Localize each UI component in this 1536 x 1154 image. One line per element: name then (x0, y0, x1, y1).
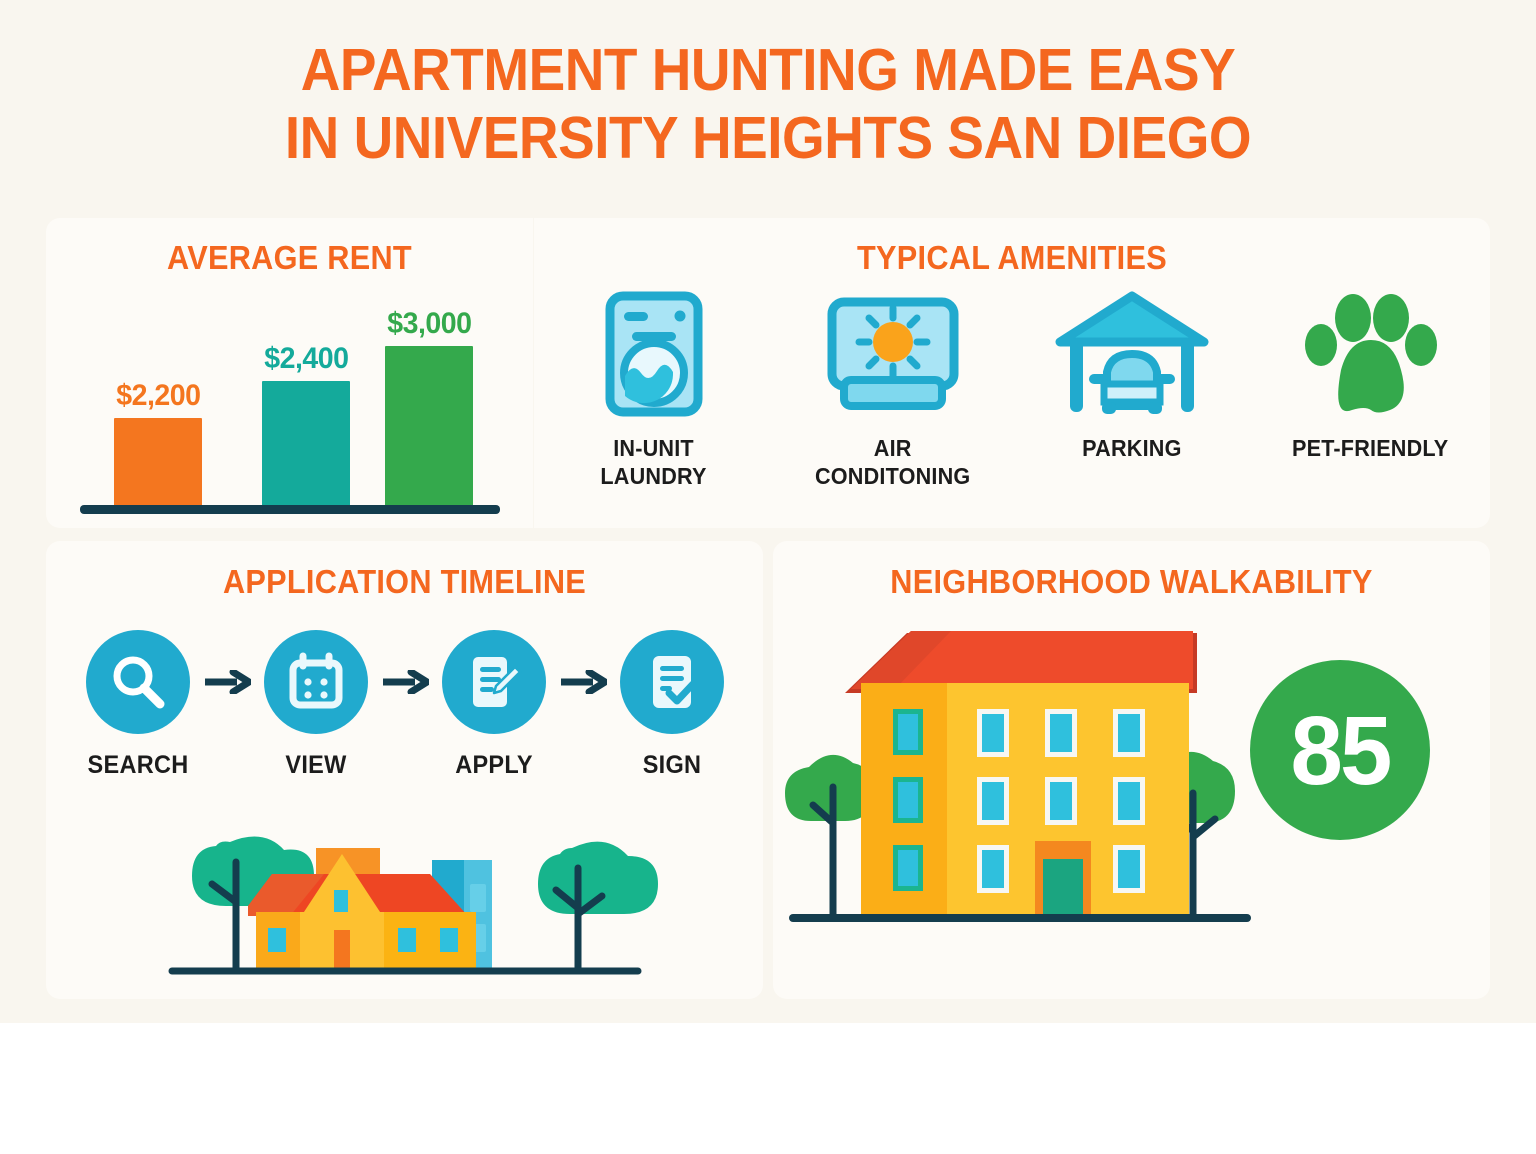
document-check-icon (620, 630, 724, 734)
magnifier-icon (86, 630, 190, 734)
bar-value-label: $2,400 (264, 342, 348, 376)
paw-print-icon (1301, 288, 1441, 420)
footer: The Nash Apartments by FLATS® livethenas… (0, 1023, 1536, 1154)
timeline-step-search: SEARCH (80, 630, 196, 780)
arrow-right-icon (552, 630, 614, 734)
apartment-building-illustration (785, 615, 1255, 940)
page-title-line2: IN UNIVERSITY HEIGHTS SAN DIEGO (54, 104, 1482, 172)
amenities-row: IN-UNIT LAUNDRY (534, 288, 1490, 513)
document-pen-icon (442, 630, 546, 734)
amenity-label-line1: IN-UNIT (613, 435, 694, 461)
bar-value-label: $2,200 (116, 379, 200, 413)
timeline-step-label: SEARCH (83, 751, 192, 780)
amenity-in-unit-laundry: IN-UNIT LAUNDRY (534, 288, 773, 513)
timeline-step-sign: SIGN (614, 630, 730, 780)
arrow-right-icon (374, 630, 436, 734)
amenity-label: PET-FRIENDLY (1292, 434, 1448, 462)
bar (385, 346, 473, 506)
bar-value-label: $3,000 (387, 307, 471, 341)
amenity-label: PARKING (1082, 434, 1181, 462)
timeline-step-label: SIGN (617, 751, 726, 780)
arrow-right-icon (196, 630, 258, 734)
bar (114, 418, 202, 506)
amenity-label: IN-UNIT LAUNDRY (600, 434, 706, 490)
page-title-line1: APARTMENT HUNTING MADE EASY (301, 37, 1235, 103)
page-title: APARTMENT HUNTING MADE EASY IN UNIVERSIT… (54, 36, 1482, 172)
timeline-step-label: APPLY (439, 751, 548, 780)
timeline-step-label: VIEW (261, 751, 370, 780)
average-rent-bar-chart: $2,200 $2,400 $3,000 (80, 300, 500, 520)
infographic-poster: APARTMENT HUNTING MADE EASY IN UNIVERSIT… (0, 0, 1536, 1154)
bar-group: $2,200 $2,400 $3,000 (80, 320, 500, 506)
amenity-label: AIR CONDITONING (815, 434, 970, 490)
chart-baseline (80, 505, 500, 514)
amenity-label-line1: PARKING (1082, 435, 1181, 461)
typical-amenities-title: TYPICAL AMENITIES (567, 239, 1456, 277)
bar-item: $2,200 (114, 379, 202, 506)
neighborhood-walkability-title: NEIGHBORHOOD WALKABILITY (798, 563, 1465, 601)
amenity-label-line1: PET-FRIENDLY (1292, 435, 1448, 461)
street-houses-illustration (168, 828, 658, 993)
washing-machine-icon (594, 288, 714, 420)
amenity-label-line2: LAUNDRY (600, 463, 706, 489)
amenity-label-line2: CONDITONING (815, 463, 970, 489)
timeline-step-view: VIEW (258, 630, 374, 780)
air-conditioner-icon (818, 288, 968, 420)
garage-car-icon (1052, 288, 1212, 420)
walk-score-value: 85 (1291, 702, 1390, 799)
bar (262, 381, 350, 506)
average-rent-title: AVERAGE RENT (63, 239, 516, 277)
calendar-icon (264, 630, 368, 734)
application-timeline-title: APPLICATION TIMELINE (71, 563, 738, 601)
timeline-step-apply: APPLY (436, 630, 552, 780)
walk-score-badge: 85 (1250, 660, 1430, 840)
amenity-air-conditioning: AIR CONDITONING (773, 288, 1012, 513)
timeline-steps: SEARCH VIEW (80, 630, 730, 805)
bar-item: $2,400 (262, 342, 350, 506)
bar-item: $3,000 (385, 307, 473, 506)
amenity-label-line1: AIR (874, 435, 912, 461)
amenity-pet-friendly: PET-FRIENDLY (1251, 288, 1490, 513)
amenity-parking: PARKING (1012, 288, 1251, 513)
